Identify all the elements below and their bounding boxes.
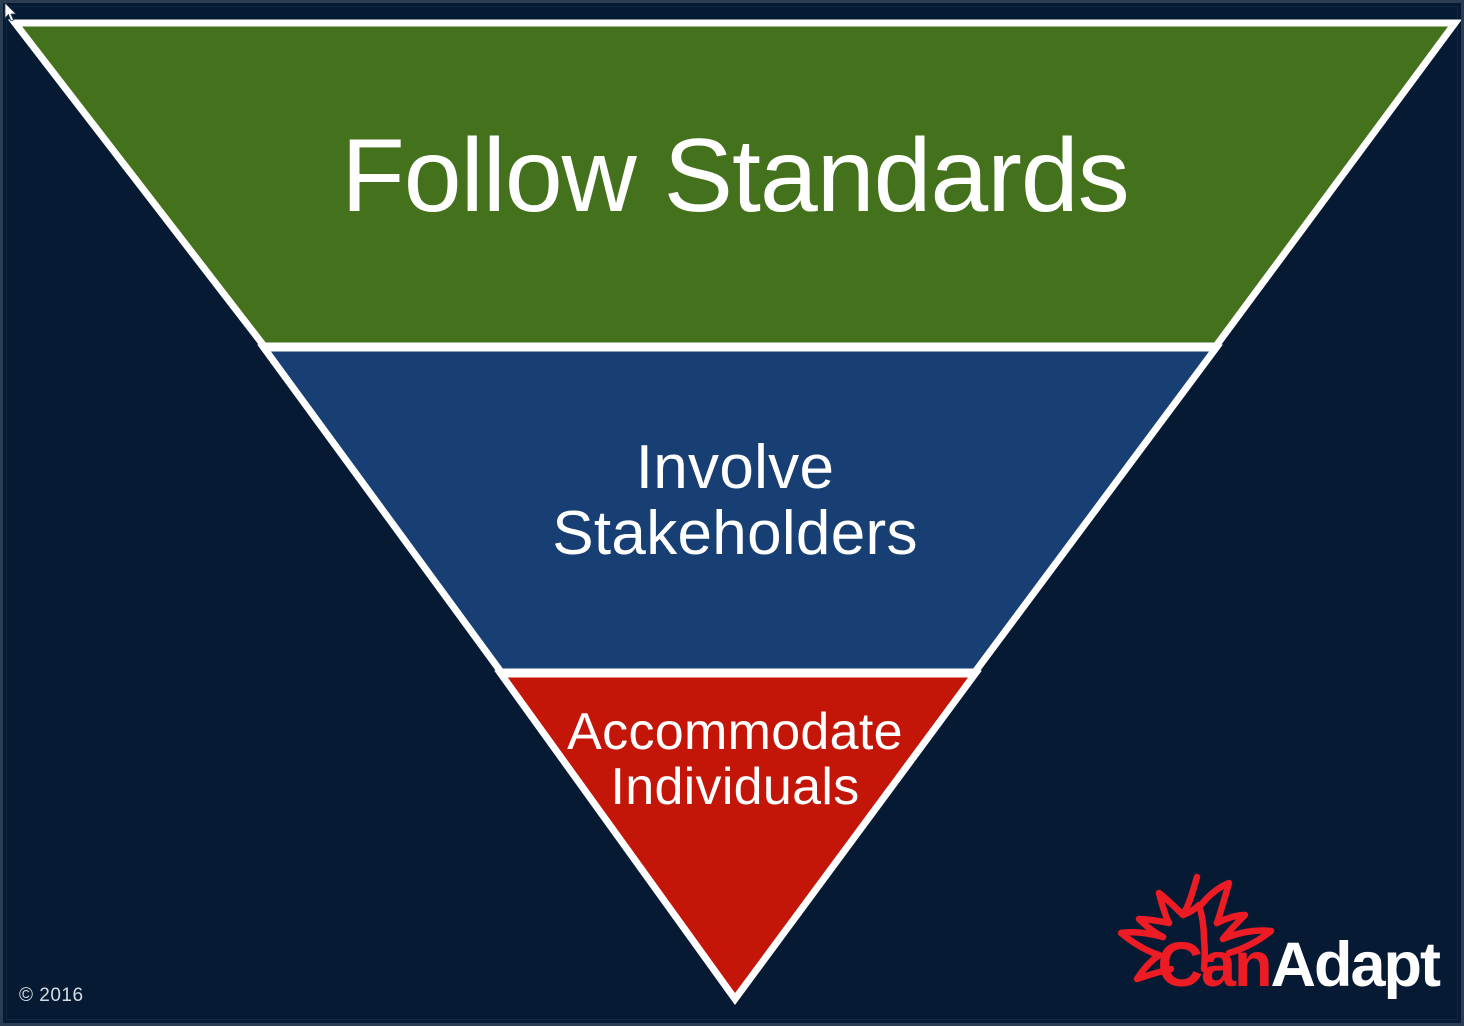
canadapt-logo: CanAdapt: [1109, 861, 1439, 1001]
funnel-label-accommodate-individuals: Accommodate Individuals: [465, 705, 1005, 815]
logo-wordmark-adapt: Adapt: [1271, 930, 1439, 1000]
slide-canvas: Follow Standards Involve Stakeholders Ac…: [0, 0, 1464, 1026]
copyright-notice: © 2016: [19, 985, 84, 1007]
funnel-label-follow-standards: Follow Standards: [265, 121, 1205, 231]
funnel-label-involve-stakeholders: Involve Stakeholders: [435, 435, 1035, 566]
logo-wordmark: CanAdapt: [1157, 934, 1439, 997]
mouse-cursor-icon: [4, 3, 18, 23]
logo-wordmark-can: Can: [1157, 930, 1270, 1000]
